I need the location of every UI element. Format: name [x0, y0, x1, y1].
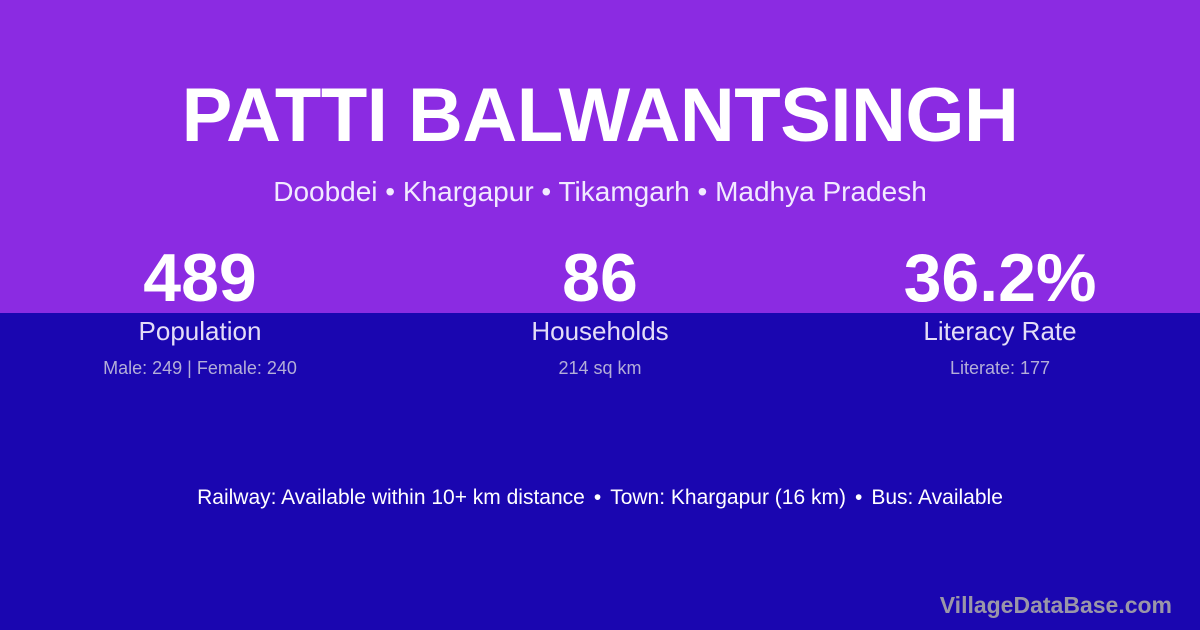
facility-separator-2: • [846, 486, 871, 509]
facilities-line: Railway: Available within 10+ km distanc… [0, 487, 1200, 508]
stat-population: 489 Population Male: 249 | Female: 240 [0, 244, 400, 377]
stat-label-households: Households [400, 318, 800, 344]
facility-bus: Bus: Available [871, 486, 1003, 509]
stat-households: 86 Households 214 sq km [400, 244, 800, 377]
stats-row: 489 Population Male: 249 | Female: 240 8… [0, 244, 1200, 377]
village-info-card: PATTI BALWANTSINGH Doobdei • Khargapur •… [0, 0, 1200, 630]
stat-value-households: 86 [400, 244, 800, 306]
facility-town: Town: Khargapur (16 km) [610, 486, 846, 509]
stat-literacy-rate: 36.2% Literacy Rate Literate: 177 [800, 244, 1200, 377]
facility-separator-1: • [585, 486, 610, 509]
stat-label-population: Population [0, 318, 400, 344]
stat-label-literacy-rate: Literacy Rate [800, 318, 1200, 344]
facility-railway: Railway: Available within 10+ km distanc… [197, 486, 585, 509]
card-header: PATTI BALWANTSINGH Doobdei • Khargapur •… [0, 0, 1200, 206]
location-breadcrumb: Doobdei • Khargapur • Tikamgarh • Madhya… [0, 178, 1200, 206]
stat-value-population: 489 [0, 244, 400, 306]
stat-detail-population: Male: 249 | Female: 240 [0, 359, 400, 377]
stat-detail-households: 214 sq km [400, 359, 800, 377]
page-title: PATTI BALWANTSINGH [0, 78, 1200, 154]
stat-detail-literacy-rate: Literate: 177 [800, 359, 1200, 377]
site-watermark: VillageDataBase.com [940, 594, 1172, 617]
stat-value-literacy-rate: 36.2% [800, 244, 1200, 306]
